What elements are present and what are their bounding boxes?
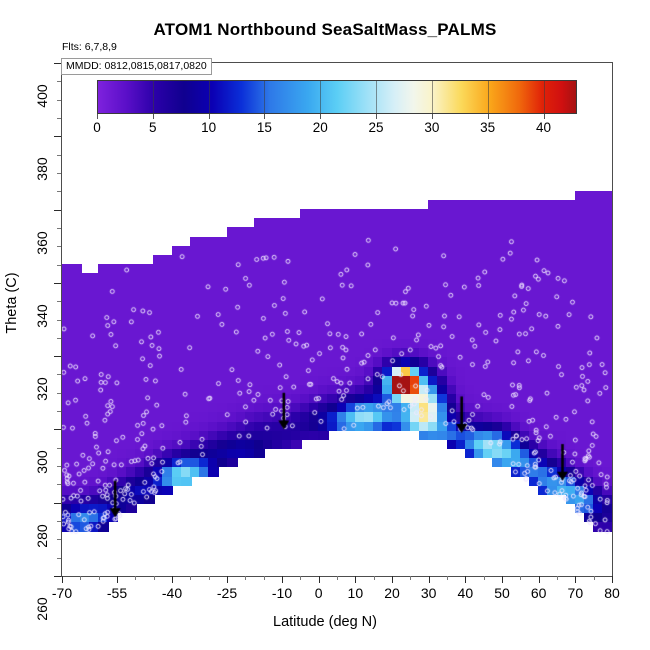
y-axis-tick-label: 360 bbox=[34, 218, 50, 268]
x-axis-tick-label: 40 bbox=[458, 585, 474, 601]
x-axis-tick bbox=[520, 576, 521, 580]
colorbar-divider bbox=[544, 81, 545, 113]
y-axis-tick bbox=[57, 521, 61, 522]
y-axis-tick-label: 280 bbox=[34, 511, 50, 561]
x-axis-tick-label: 50 bbox=[494, 585, 510, 601]
x-axis-tick bbox=[154, 576, 155, 580]
colorbar-tick-label: 40 bbox=[536, 120, 551, 135]
annotation-arrows bbox=[62, 63, 612, 576]
y-axis-tick bbox=[57, 81, 61, 82]
y-axis-tick bbox=[57, 228, 61, 229]
flights-annotation: Flts: 6,7,8,9 bbox=[62, 41, 117, 53]
mmdd-annotation: MMDD: 0812,0815,0817,0820 bbox=[61, 58, 212, 75]
x-axis-tick bbox=[319, 576, 320, 583]
y-axis-tick bbox=[57, 320, 61, 321]
y-axis-tick bbox=[57, 466, 61, 467]
x-axis-tick bbox=[209, 576, 210, 580]
x-axis-tick bbox=[172, 576, 173, 583]
y-axis-tick bbox=[54, 429, 61, 430]
colorbar: 0510152025303540 bbox=[97, 80, 577, 118]
x-axis-tick bbox=[80, 576, 81, 580]
x-axis-tick bbox=[392, 576, 393, 583]
colorbar-tick bbox=[209, 114, 210, 119]
y-axis-tick bbox=[54, 576, 61, 577]
x-axis-tick bbox=[575, 576, 576, 583]
colorbar-tick bbox=[488, 114, 489, 119]
x-axis-tick bbox=[300, 576, 301, 580]
x-axis-tick-label: -40 bbox=[162, 585, 182, 601]
y-axis-tick-label: 340 bbox=[34, 291, 50, 341]
plot-area[interactable] bbox=[61, 62, 613, 577]
y-axis-tick bbox=[57, 301, 61, 302]
x-axis-title: Latitude (deg N) bbox=[0, 614, 650, 630]
colorbar-tick bbox=[264, 114, 265, 119]
y-axis-tick bbox=[57, 155, 61, 156]
y-axis-tick bbox=[57, 265, 61, 266]
x-axis-tick bbox=[594, 576, 595, 580]
y-axis-tick bbox=[54, 136, 61, 137]
x-axis-tick bbox=[410, 576, 411, 580]
x-axis-tick-label: 80 bbox=[604, 585, 620, 601]
x-axis-tick bbox=[282, 576, 283, 583]
x-axis-tick-label: 20 bbox=[384, 585, 400, 601]
y-axis-tick bbox=[54, 503, 61, 504]
y-axis-tick bbox=[57, 448, 61, 449]
colorbar-tick bbox=[97, 114, 98, 119]
colorbar-divider bbox=[488, 81, 489, 113]
y-axis-tick bbox=[57, 411, 61, 412]
y-axis-tick bbox=[54, 210, 61, 211]
y-axis-tick bbox=[57, 173, 61, 174]
x-axis-tick-label: -25 bbox=[217, 585, 237, 601]
x-axis-tick bbox=[502, 576, 503, 583]
y-axis-tick bbox=[54, 356, 61, 357]
y-axis-tick-label: 300 bbox=[34, 437, 50, 487]
colorbar-tick-label: 0 bbox=[93, 120, 101, 135]
x-axis-tick bbox=[612, 576, 613, 583]
y-axis-tick-label: 380 bbox=[34, 144, 50, 194]
x-axis-tick bbox=[264, 576, 265, 580]
x-axis-tick bbox=[62, 576, 63, 583]
x-axis-tick bbox=[245, 576, 246, 580]
x-axis-tick-label: 70 bbox=[568, 585, 584, 601]
x-axis-tick bbox=[355, 576, 356, 583]
x-axis-tick bbox=[539, 576, 540, 583]
x-axis-tick bbox=[484, 576, 485, 580]
x-axis-tick-label: 10 bbox=[348, 585, 364, 601]
colorbar-tick-label: 10 bbox=[201, 120, 216, 135]
colorbar-tick-label: 15 bbox=[257, 120, 272, 135]
y-axis-tick bbox=[57, 118, 61, 119]
x-axis-tick bbox=[117, 576, 118, 583]
colorbar-divider bbox=[432, 81, 433, 113]
colorbar-tick-label: 20 bbox=[313, 120, 328, 135]
y-axis-tick bbox=[57, 484, 61, 485]
y-axis-tick bbox=[57, 374, 61, 375]
x-axis-tick bbox=[465, 576, 466, 583]
x-axis-tick bbox=[190, 576, 191, 580]
colorbar-divider bbox=[376, 81, 377, 113]
x-axis-tick bbox=[429, 576, 430, 583]
colorbar-divider bbox=[153, 81, 154, 113]
colorbar-tick-label: 30 bbox=[424, 120, 439, 135]
x-axis-tick-label: 0 bbox=[315, 585, 323, 601]
colorbar-tick bbox=[376, 114, 377, 119]
x-axis-tick-label: 60 bbox=[531, 585, 547, 601]
colorbar-tick bbox=[544, 114, 545, 119]
y-axis-title: Theta (C) bbox=[4, 243, 20, 363]
colorbar-divider bbox=[264, 81, 265, 113]
x-axis-tick bbox=[447, 576, 448, 580]
y-axis-tick bbox=[57, 246, 61, 247]
x-axis-tick-label: 30 bbox=[421, 585, 437, 601]
y-axis-tick-label: 320 bbox=[34, 364, 50, 414]
colorbar-tick bbox=[432, 114, 433, 119]
y-axis-tick bbox=[57, 393, 61, 394]
page-title: ATOM1 Northbound SeaSaltMass_PALMS bbox=[0, 20, 650, 40]
x-axis-tick bbox=[135, 576, 136, 580]
colorbar-gradient bbox=[97, 80, 577, 114]
colorbar-tick bbox=[153, 114, 154, 119]
y-axis-tick bbox=[54, 63, 61, 64]
x-axis-tick bbox=[557, 576, 558, 580]
colorbar-tick-label: 25 bbox=[369, 120, 384, 135]
x-axis-tick bbox=[337, 576, 338, 580]
colorbar-divider bbox=[209, 81, 210, 113]
colorbar-tick-label: 35 bbox=[480, 120, 495, 135]
colorbar-tick bbox=[320, 114, 321, 119]
x-axis-tick-label: -70 bbox=[52, 585, 72, 601]
y-axis-tick bbox=[57, 191, 61, 192]
y-axis-tick bbox=[57, 539, 61, 540]
x-axis-tick bbox=[99, 576, 100, 580]
colorbar-tick-label: 5 bbox=[149, 120, 157, 135]
y-axis-tick bbox=[54, 283, 61, 284]
y-axis-tick bbox=[57, 100, 61, 101]
x-axis-tick-label: -10 bbox=[272, 585, 292, 601]
y-axis-tick-label: 400 bbox=[34, 71, 50, 121]
colorbar-divider bbox=[320, 81, 321, 113]
y-axis-tick bbox=[57, 558, 61, 559]
x-axis-tick-label: -55 bbox=[107, 585, 127, 601]
x-axis-tick bbox=[374, 576, 375, 580]
y-axis-tick bbox=[57, 338, 61, 339]
x-axis-tick bbox=[227, 576, 228, 583]
